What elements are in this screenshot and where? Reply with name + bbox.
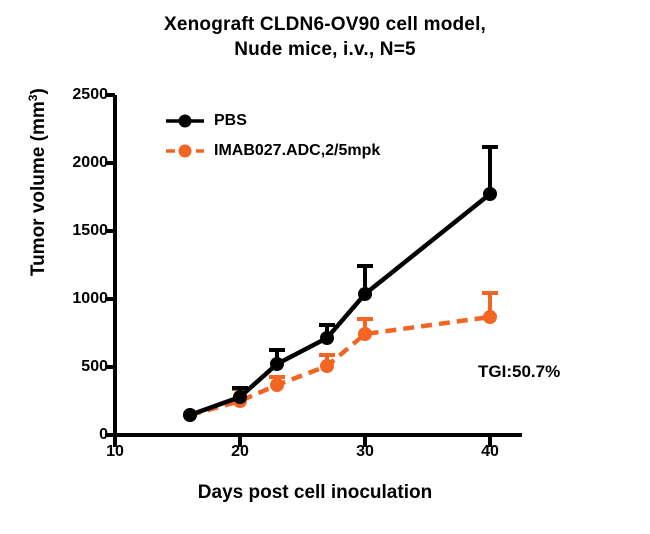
control-error-bars (190, 147, 498, 415)
legend-item-treatment: IMAB027.ADC,2/5mpk (166, 136, 380, 166)
legend-label-treatment: IMAB027.ADC,2/5mpk (214, 142, 380, 160)
legend-key-treatment (166, 142, 204, 160)
control-line (190, 194, 490, 415)
tgi-annotation: TGI:50.7% (478, 362, 560, 382)
legend-label-pbs: PBS (214, 112, 247, 130)
control-markers (183, 187, 497, 422)
legend-key-pbs (166, 112, 204, 130)
chart-figure: Xenograft CLDN6-OV90 cell model, Nude mi… (0, 0, 650, 534)
plot-canvas (0, 0, 650, 534)
legend-item-pbs: PBS (166, 106, 380, 136)
series-control (183, 147, 498, 422)
chart-legend: PBS IMAB027.ADC,2/5mpk (166, 106, 380, 166)
